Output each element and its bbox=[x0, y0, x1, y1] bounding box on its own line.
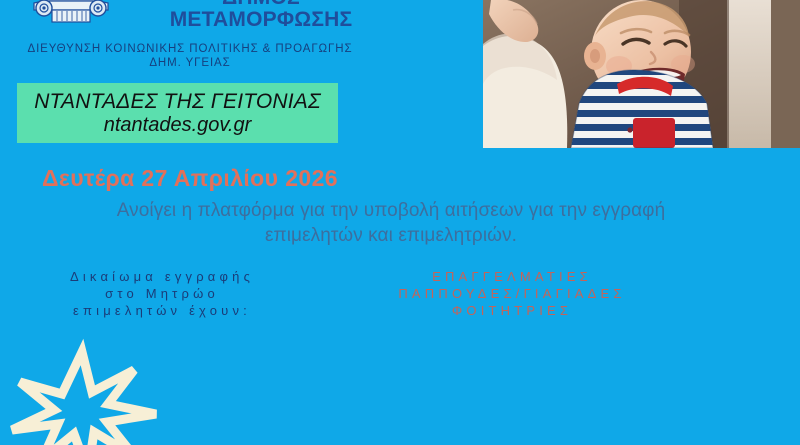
starburst-icon bbox=[8, 348, 158, 445]
eligibility-question-line2: στο Μητρώο bbox=[12, 285, 312, 302]
program-banner: ΝΤΑΝΤΑΔΕΣ ΤΗΣ ΓΕΙΤΟΝΙΑΣ ntantades.gov.gr bbox=[17, 83, 338, 143]
announcement-body: Ανοίγει η πλατφόρμα για την υποβολή αιτή… bbox=[30, 198, 752, 248]
eligibility-question: Δικαίωμα εγγραφής στο Μητρώο επιμελητών … bbox=[12, 268, 312, 319]
eligibility-groups: ΕΠΑΓΓΕΛΜΑΤΙΕΣ ΠΑΠΠΟΥΔΕΣ/ΓΙΑΓΙΑΔΕΣ ΦΟΙΤΗΤ… bbox=[362, 268, 662, 319]
announcement-body-line2: επιμελητών και επιμελητριών. bbox=[30, 223, 752, 248]
eligibility-group-students: ΦΟΙΤΗΤΡΙΕΣ bbox=[362, 302, 662, 319]
eligibility-question-line3: επιμελητών έχουν: bbox=[12, 302, 312, 319]
announcement-date: Δευτέρα 27 Απριλίου 2026 bbox=[42, 165, 338, 191]
department-title: ΔΙΕΥΘΥΝΣΗ ΚΟΙΝΩΝΙΚΗΣ ΠΟΛΙΤΙΚΗΣ & ΠΡΟΑΓΩΓ… bbox=[10, 42, 370, 70]
organisation-title-line2: ΜΕΤΑΜΟΡΦΩΣΗΣ bbox=[96, 9, 426, 31]
program-name: ΝΤΑΝΤΑΔΕΣ ΤΗΣ ΓΕΙΤΟΝΙΑΣ bbox=[34, 90, 321, 114]
eligibility-question-line1: Δικαίωμα εγγραφής bbox=[12, 268, 312, 285]
program-website[interactable]: ntantades.gov.gr bbox=[104, 114, 252, 137]
department-title-line2: ΔΗΜ. ΥΓΕΙΑΣ bbox=[10, 56, 370, 70]
poster-canvas: ΔΗΜΟΣ ΜΕΤΑΜΟΡΦΩΣΗΣ ΔΙΕΥΘΥΝΣΗ ΚΟΙΝΩΝΙΚΗΣ … bbox=[0, 0, 800, 445]
announcement-body-line1: Ανοίγει η πλατφόρμα για την υποβολή αιτή… bbox=[30, 198, 752, 223]
laughing-baby-photo bbox=[483, 0, 800, 148]
eligibility-group-professionals: ΕΠΑΓΓΕΛΜΑΤΙΕΣ bbox=[362, 268, 662, 285]
eligibility-group-grandparents: ΠΑΠΠΟΥΔΕΣ/ΓΙΑΓΙΑΔΕΣ bbox=[362, 285, 662, 302]
organisation-title: ΔΗΜΟΣ ΜΕΤΑΜΟΡΦΩΣΗΣ bbox=[96, 0, 426, 31]
department-title-line1: ΔΙΕΥΘΥΝΣΗ ΚΟΙΝΩΝΙΚΗΣ ΠΟΛΙΤΙΚΗΣ & ΠΡΟΑΓΩΓ… bbox=[10, 42, 370, 56]
